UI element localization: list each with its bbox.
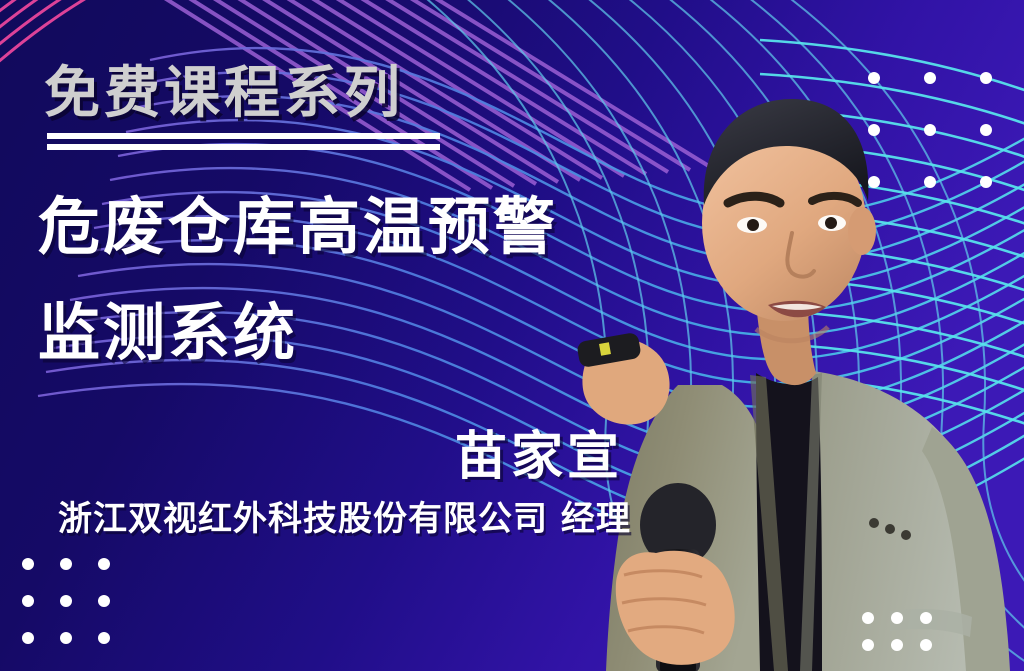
decor-dot	[920, 639, 932, 651]
underline-rule	[47, 133, 440, 139]
course-poster: 免费课程系列 危废仓库高温预警 监测系统 苗家宣 浙江双视红外科技股份有限公司 …	[0, 0, 1024, 671]
decor-dot	[891, 612, 903, 624]
decor-dot	[924, 124, 936, 136]
decor-dot	[920, 612, 932, 624]
poster-text-block: 免费课程系列 危废仓库高温预警 监测系统 苗家宣 浙江双视红外科技股份有限公司 …	[0, 0, 660, 671]
dot-grid-top-right	[868, 72, 1024, 228]
decor-dot	[862, 639, 874, 651]
decor-dot	[868, 176, 880, 188]
decor-dot	[924, 72, 936, 84]
series-kicker: 免费课程系列	[44, 48, 404, 129]
decor-dot	[868, 72, 880, 84]
underline-rule	[47, 144, 440, 150]
poster-title-line-2: 监测系统	[38, 282, 298, 372]
decor-dot	[891, 639, 903, 651]
decor-dot	[924, 176, 936, 188]
speaker-name: 苗家宣	[455, 414, 623, 489]
poster-title-line-1: 危废仓库高温预警	[38, 176, 558, 266]
decor-dot	[980, 124, 992, 136]
decor-dot	[862, 612, 874, 624]
dot-grid-bottom-right	[862, 612, 949, 666]
speaker-organization: 浙江双视红外科技股份有限公司 经理	[58, 491, 631, 540]
decor-dot	[868, 124, 880, 136]
presenter-head	[702, 99, 876, 341]
kicker-underline	[47, 133, 440, 150]
decor-dot	[980, 72, 992, 84]
decor-dot	[980, 176, 992, 188]
